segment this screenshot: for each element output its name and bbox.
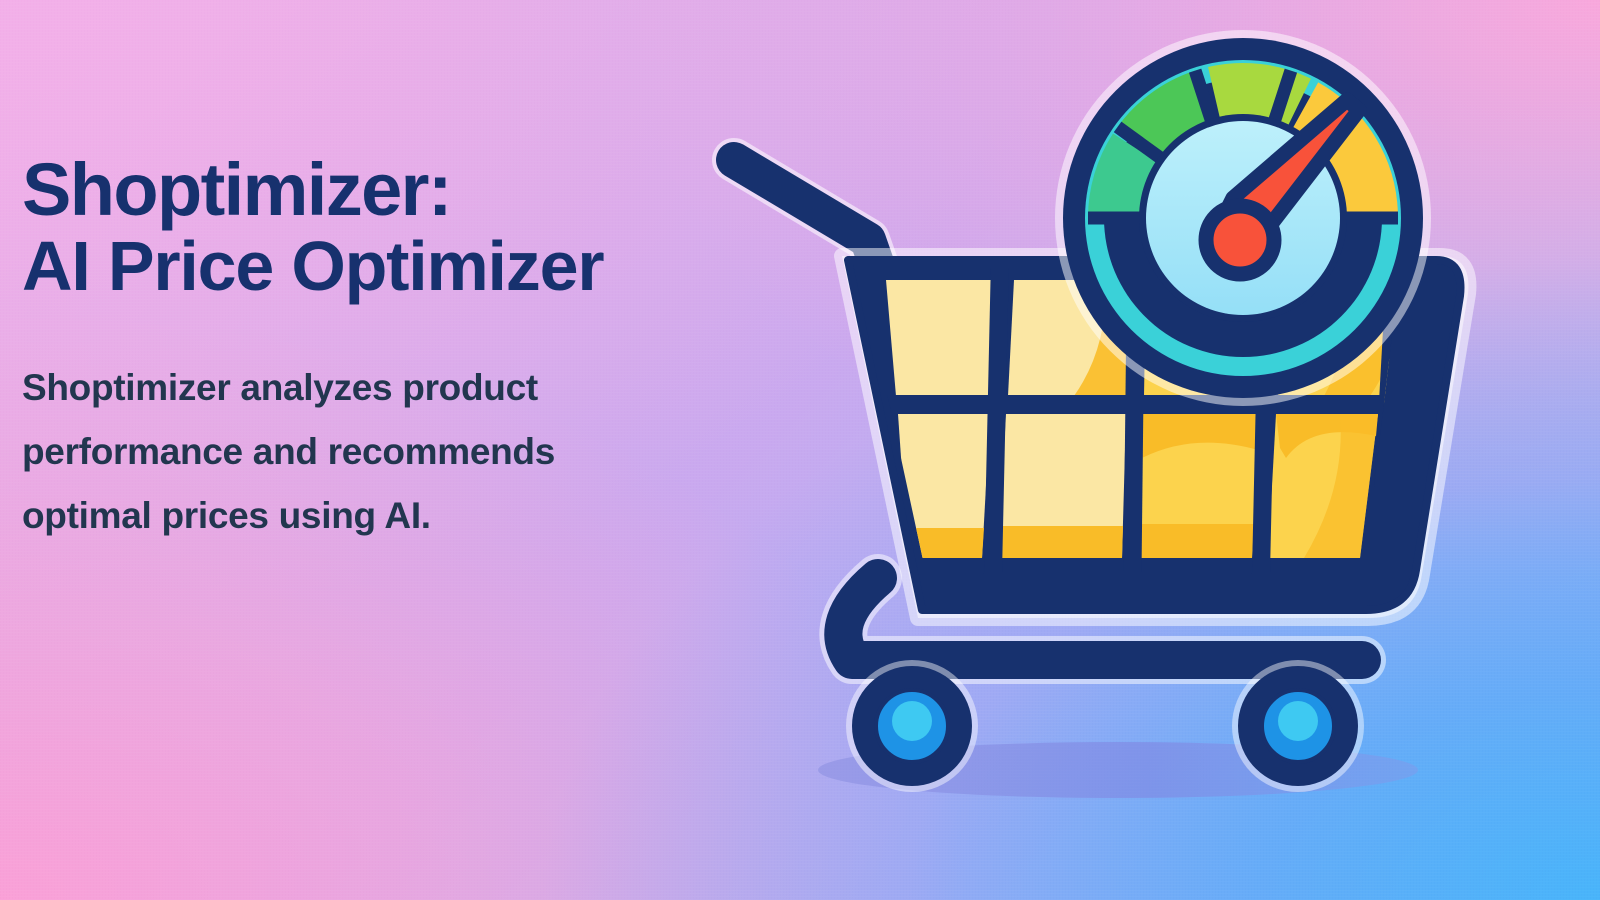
headline-line-1: Shoptimizer: <box>22 150 782 229</box>
hero-banner: Shoptimizer: AI Price Optimizer Shoptimi… <box>0 0 1600 900</box>
description-line-1: Shoptimizer analyzes product <box>22 356 702 420</box>
hero-copy-block: Shoptimizer: AI Price Optimizer Shoptimi… <box>22 150 782 548</box>
speedometer-gauge <box>1055 30 1431 406</box>
description-line-2: performance and recommends <box>22 420 702 484</box>
page-title: Shoptimizer: AI Price Optimizer <box>22 150 782 304</box>
cart-wheel-right <box>1232 660 1364 792</box>
cart-speedometer-illustration <box>700 18 1520 848</box>
cart-wheel-left <box>846 660 978 792</box>
hero-description: Shoptimizer analyzes product performance… <box>22 356 702 548</box>
description-line-3: optimal prices using AI. <box>22 484 702 548</box>
headline-line-2: AI Price Optimizer <box>22 229 782 304</box>
